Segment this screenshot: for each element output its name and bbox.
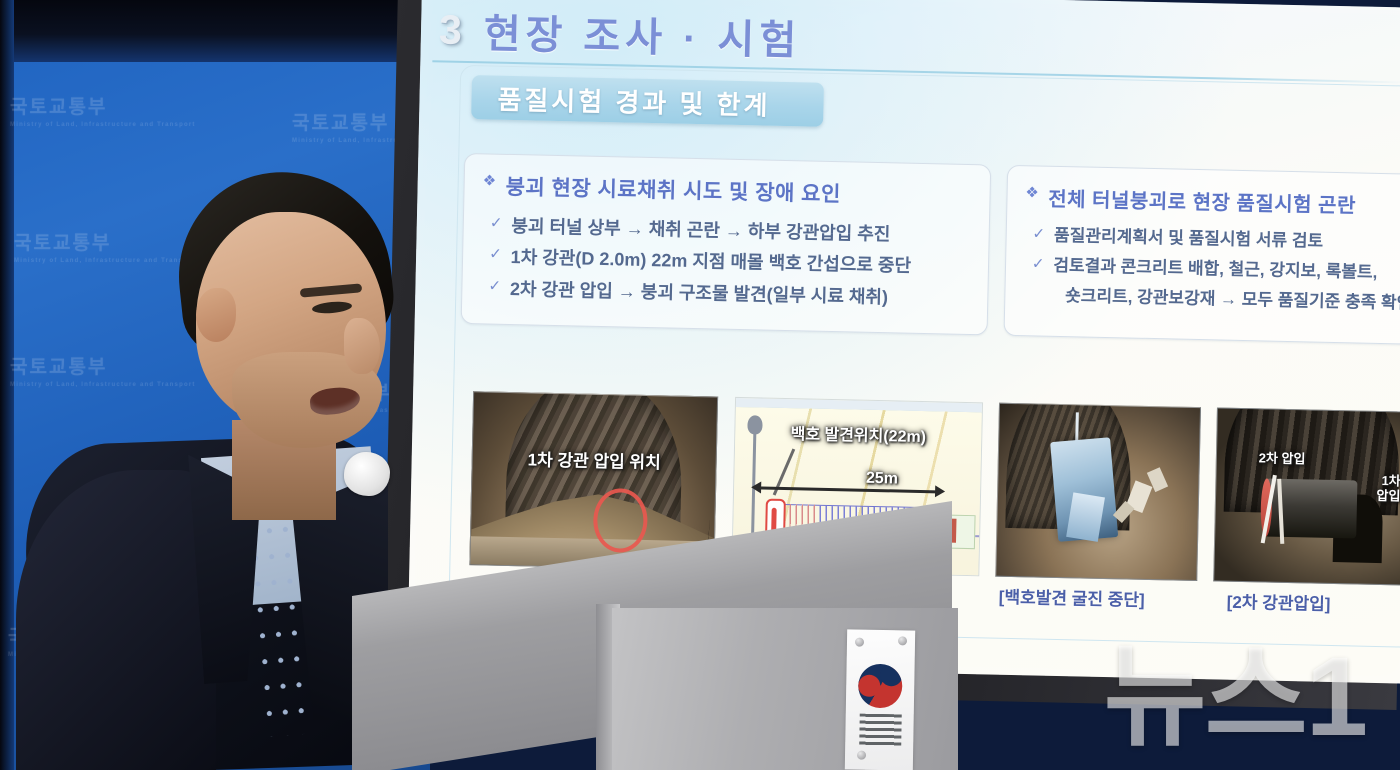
photo1-overlay-label: 1차 강관 압입 위치 xyxy=(527,445,661,473)
backhoe-discovery-photo xyxy=(995,403,1201,581)
photo4-overlay-label-a: 2차 압입 xyxy=(1259,447,1306,467)
screenshot-root: 국토교통부 Ministry of Land, Infrastructure a… xyxy=(0,0,1400,770)
emblem-ministry-text-icon xyxy=(859,714,902,749)
subtitle-badge: 품질시험 경과 및 한계 xyxy=(471,75,824,127)
left-bullet-2-text: 1차 강관(D 2.0m) 22m 지점 매몰 백호 간섭으로 중단 xyxy=(510,243,911,280)
plate-screw-icon xyxy=(857,751,866,760)
photo2-overlay-title: 백호 발견위치(22m) xyxy=(790,420,926,447)
diamond-bullet-icon: ❖ xyxy=(1025,182,1039,205)
right-bullet-2-text: 검토결과 콘크리트 배합, 철근, 강지보, 록볼트, xyxy=(1053,253,1378,287)
slide-header: 3 현장 조사 · 시험 xyxy=(438,0,801,66)
right-bullet-2-cont-text: 숏크리트, 강관보강재 → 모두 품질기준 충족 확인 xyxy=(1065,283,1400,317)
check-icon: ✓ xyxy=(489,243,502,267)
content-boxes: ❖ 붕괴 현장 시료채취 시도 및 장애 요인 ✓ 붕괴 터널 상부 → 채취 … xyxy=(461,153,1400,345)
plate-screw-icon xyxy=(855,638,864,647)
photo4-caption: [2차 강관압입] xyxy=(1227,588,1331,615)
diamond-bullet-icon: ❖ xyxy=(483,170,497,193)
check-icon: ✓ xyxy=(1032,252,1045,276)
photo2-overlay-dimension: 25m xyxy=(866,470,898,489)
microphone-windscreen xyxy=(344,452,390,496)
photo4-overlay-b-line1: 1차 xyxy=(1381,473,1400,488)
right-bullet-2-continuation: 숏크리트, 강관보강재 → 모두 품질기준 충족 확인 xyxy=(1031,282,1400,317)
ear xyxy=(196,288,236,342)
right-bullet-1: ✓ 품질관리계획서 및 품질시험 서류 검토 xyxy=(1032,222,1400,257)
second-pipe-jacking-photo: 2차 압입 1차 압입 xyxy=(1213,407,1400,585)
page-title: 현장 조사 · 시험 xyxy=(483,1,802,66)
podium-emblem-plate xyxy=(845,629,915,770)
plate-screw-icon xyxy=(898,636,907,645)
photo4-overlay-label-b: 1차 압입 xyxy=(1376,474,1400,504)
left-bullet-3-text: 2차 강관 압입 → 붕괴 구조물 발견(일부 시료 채취) xyxy=(510,275,889,312)
left-bullet-1-text: 붕괴 터널 상부 → 채취 곤란 → 하부 강관압입 추진 xyxy=(511,212,891,249)
left-content-box: ❖ 붕괴 현장 시료채취 시도 및 장애 요인 ✓ 붕괴 터널 상부 → 채취 … xyxy=(461,153,991,336)
right-bullet-2: ✓ 검토결과 콘크리트 배합, 철근, 강지보, 록볼트, xyxy=(1032,252,1400,287)
check-icon: ✓ xyxy=(1032,222,1045,246)
left-box-heading: ❖ 붕괴 현장 시료채취 시도 및 장애 요인 xyxy=(482,170,971,211)
subtitle-badge-label: 품질시험 경과 및 한계 xyxy=(497,79,771,122)
right-content-box: ❖ 전체 터널붕괴로 현장 품질시험 곤란 ✓ 품질관리계획서 및 품질시험 서… xyxy=(1003,165,1400,346)
left-box-heading-text: 붕괴 현장 시료채취 시도 및 장애 요인 xyxy=(505,171,841,208)
right-bullet-1-text: 품질관리계획서 및 품질시험 서류 검토 xyxy=(1054,223,1324,256)
government-taegeuk-emblem-icon xyxy=(858,664,903,709)
check-icon: ✓ xyxy=(488,274,501,298)
photo3-caption: [백호발견 굴진 중단] xyxy=(999,583,1145,611)
right-box-heading: ❖ 전체 터널붕괴로 현장 품질시험 곤란 xyxy=(1025,182,1400,219)
photo4-overlay-b-line2: 압입 xyxy=(1376,488,1400,504)
right-box-heading-text: 전체 터널붕괴로 현장 품질시험 곤란 xyxy=(1048,183,1356,219)
check-icon: ✓ xyxy=(490,212,503,236)
